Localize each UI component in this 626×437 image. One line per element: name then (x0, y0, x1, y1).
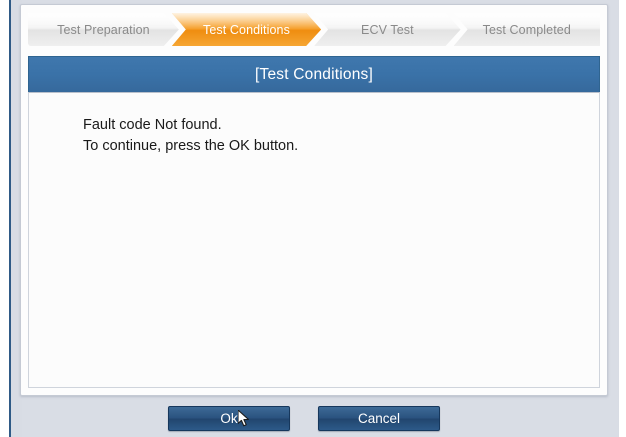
diagnostic-dialog-window: Test Preparation Test Conditions ECV Tes… (0, 0, 626, 437)
step-test-completed[interactable]: Test Completed (454, 13, 600, 46)
cancel-button[interactable]: Cancel (318, 406, 440, 431)
panel-title-bar: [Test Conditions] (28, 56, 600, 92)
page-title: [Test Conditions] (255, 66, 373, 84)
message-line-2: To continue, press the OK button. (83, 136, 599, 157)
ok-button[interactable]: Ok (168, 406, 290, 431)
step-label: Test Completed (483, 23, 571, 37)
test-step-breadcrumb: Test Preparation Test Conditions ECV Tes… (28, 13, 600, 46)
main-panel: [Test Conditions] Fault code Not found. … (28, 56, 600, 388)
step-label: Test Preparation (57, 23, 150, 37)
step-label: ECV Test (361, 23, 414, 37)
step-test-conditions[interactable]: Test Conditions (172, 13, 321, 46)
ok-button-label: Ok (220, 411, 237, 426)
step-test-preparation[interactable]: Test Preparation (28, 13, 179, 46)
step-ecv-test[interactable]: ECV Test (314, 13, 460, 46)
panel-content-area: Fault code Not found. To continue, press… (28, 92, 600, 388)
message-line-1: Fault code Not found. (83, 115, 599, 136)
cancel-button-label: Cancel (358, 411, 400, 426)
step-label: Test Conditions (203, 23, 290, 37)
footer-button-bar: Ok Cancel (20, 400, 608, 437)
